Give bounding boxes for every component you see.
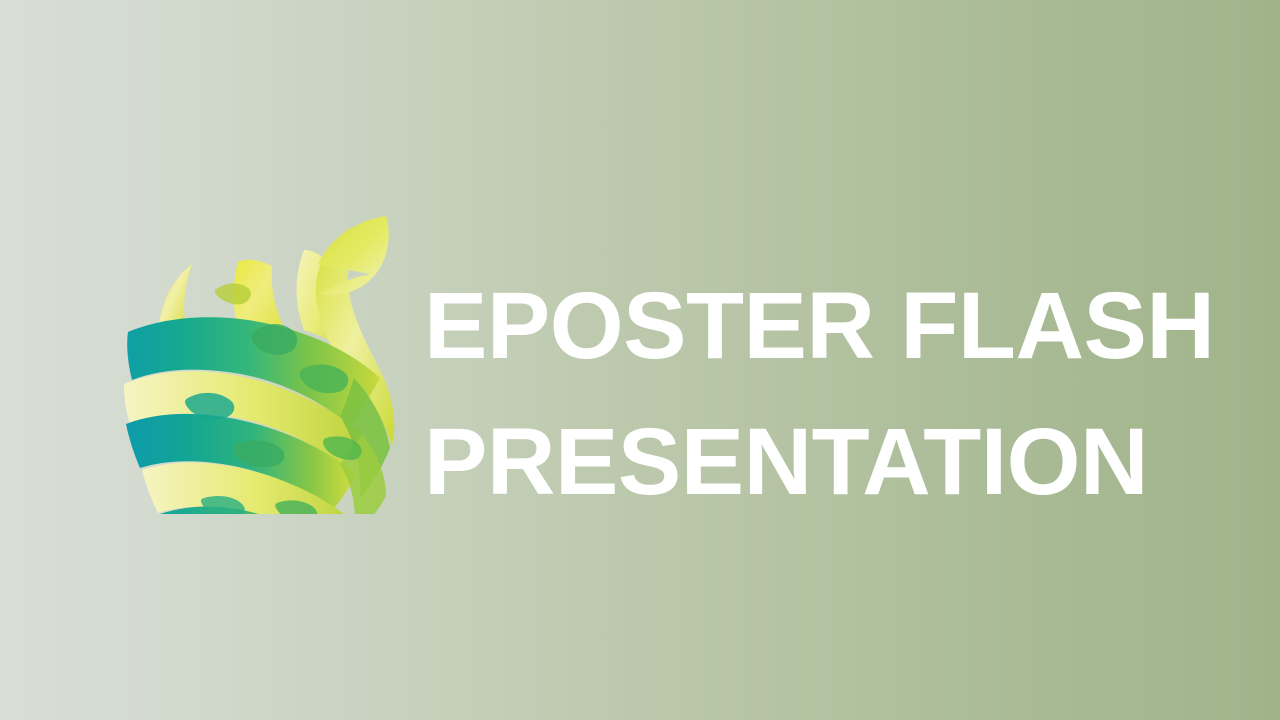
globe-bands: [124, 216, 394, 514]
title-line-2: PRESENTATION: [424, 394, 1214, 530]
slide-title-block: EPOSTER FLASH PRESENTATION: [424, 258, 1214, 530]
title-line-1: EPOSTER FLASH: [424, 258, 1214, 394]
globe-ribbon-leaf-logo: [118, 202, 408, 514]
slide-canvas: EPOSTER FLASH PRESENTATION: [0, 0, 1280, 720]
